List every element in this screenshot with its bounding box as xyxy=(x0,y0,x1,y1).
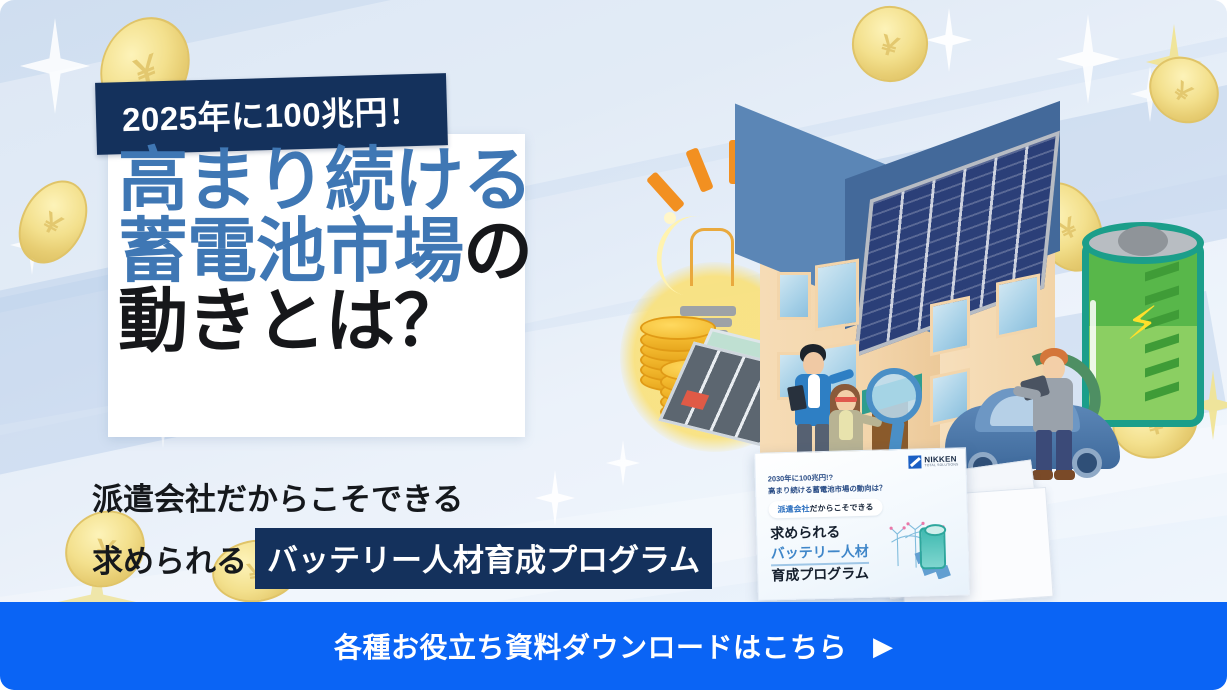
glasses-icon xyxy=(835,397,857,402)
brochure-battery-icon xyxy=(919,527,946,570)
sparkle-icon xyxy=(1130,66,1170,122)
nikken-logo: NIKKEN TOTAL SOLUTIONS xyxy=(908,454,958,468)
house-window xyxy=(930,296,970,357)
brochure-title-1: 求められる xyxy=(770,522,840,544)
bulb-filament xyxy=(690,228,734,286)
car-wheel xyxy=(1072,448,1102,478)
badge-text: 2025年に100兆円！ xyxy=(122,93,422,138)
brochure-cover: NIKKEN TOTAL SOLUTIONS 2030年に100兆円!? 高まり… xyxy=(754,447,970,600)
brochure-pill-bold: 派遣会社 xyxy=(777,504,809,514)
house-window xyxy=(777,272,811,320)
subheading-line-1: 派遣会社だからこそできる xyxy=(92,474,712,519)
subheading-plain: 求められる xyxy=(92,536,247,581)
magnifier-icon xyxy=(866,368,922,424)
cta-label: 各種お役立ち資料ダウンロードはこちら xyxy=(334,626,847,666)
sparkle-icon xyxy=(10,215,54,275)
play-arrow-icon: ▶ xyxy=(873,633,893,659)
headline-line-2-blue: 蓄電池市場 xyxy=(118,212,463,290)
yen-coin: ￥ xyxy=(1136,43,1227,136)
bulb-glint xyxy=(664,212,676,224)
sparkle-icon xyxy=(1056,14,1120,104)
nikken-logo-tagline: TOTAL SOLUTIONS xyxy=(924,463,958,467)
brochure-pill-rest: だからこそできる xyxy=(809,503,873,514)
battery-terminal xyxy=(1118,226,1168,256)
headline-line-2: 蓄電池市場の xyxy=(118,217,538,286)
subheading-highlight: バッテリー人材育成プログラム xyxy=(255,528,712,589)
sparkle-icon xyxy=(926,8,972,72)
brochure-kicker-2: 高まり続ける蓄電池市場の動向は？ xyxy=(768,482,887,496)
subheading: 派遣会社だからこそできる 求められる バッテリー人材育成プログラム xyxy=(92,474,712,589)
yen-coin: ￥ xyxy=(843,0,937,91)
brochure-pill: 派遣会社だからこそできる xyxy=(768,498,882,518)
bulb-base xyxy=(680,306,736,316)
download-cta-button[interactable]: 各種お役立ち資料ダウンロードはこちら ▶ xyxy=(0,602,1227,690)
nikken-logo-mark xyxy=(908,455,921,468)
house-window xyxy=(996,273,1040,338)
brochure-title-3: 育成プログラム xyxy=(771,563,869,586)
headline-line-3: 動きとは？ xyxy=(118,287,538,356)
sparkle-icon xyxy=(20,18,90,114)
brochure-kicker-1: 2030年に100兆円!? xyxy=(768,472,834,485)
promo-banner: ￥ ￥ ￥ ￥ ￥ ￥ ￥ ￥ ￥ xyxy=(0,0,1227,690)
subheading-line-2: 求められる バッテリー人材育成プログラム xyxy=(92,528,712,589)
headline-line-1: 高まり続ける xyxy=(118,146,538,215)
sparkle-icon xyxy=(1146,24,1202,100)
headline-line-2-dark: の xyxy=(463,212,532,290)
house-window xyxy=(815,259,859,332)
page-title: 高まり続ける 蓄電池市場の 動きとは？ xyxy=(118,146,538,356)
yen-coin: ￥ xyxy=(5,169,101,276)
lightning-bolt-icon: ⚡ xyxy=(1126,300,1158,346)
